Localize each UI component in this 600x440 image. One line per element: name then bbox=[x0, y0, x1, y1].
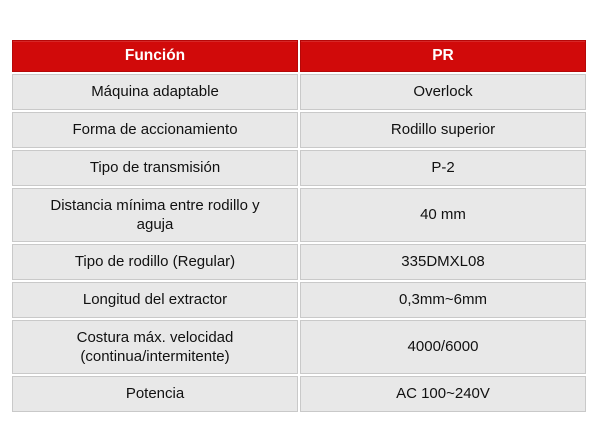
table-row: Tipo de rodillo (Regular)335DMXL08 bbox=[12, 244, 586, 280]
table-row: Forma de accionamientoRodillo superior bbox=[12, 112, 586, 148]
table-row: PotenciaAC 100~240V bbox=[12, 376, 586, 412]
cell-value: 4000/6000 bbox=[300, 320, 586, 374]
specifications-table: Función PR Máquina adaptableOverlockForm… bbox=[10, 38, 588, 414]
cell-value: P-2 bbox=[300, 150, 586, 186]
cell-value: Overlock bbox=[300, 74, 586, 110]
cell-function: Potencia bbox=[12, 376, 298, 412]
cell-function-text: Longitud del extractor bbox=[19, 290, 291, 310]
table-row: Distancia mínima entre rodillo yaguja40 … bbox=[12, 188, 586, 242]
cell-value-text: AC 100~240V bbox=[307, 384, 579, 404]
cell-value: Rodillo superior bbox=[300, 112, 586, 148]
table-row: Tipo de transmisiónP-2 bbox=[12, 150, 586, 186]
cell-function: Máquina adaptable bbox=[12, 74, 298, 110]
table-header: Función PR bbox=[12, 40, 586, 72]
cell-function-text: Distancia mínima entre rodillo y bbox=[19, 196, 291, 216]
cell-function-text-line2: (continua/intermitente) bbox=[80, 348, 229, 365]
cell-function: Longitud del extractor bbox=[12, 282, 298, 318]
cell-value-text: 40 mm bbox=[307, 205, 579, 225]
cell-function: Tipo de rodillo (Regular) bbox=[12, 244, 298, 280]
cell-value-text: P-2 bbox=[307, 158, 579, 178]
cell-function-text: Tipo de transmisión bbox=[19, 158, 291, 178]
cell-function-text: Forma de accionamiento bbox=[19, 120, 291, 140]
cell-function: Forma de accionamiento bbox=[12, 112, 298, 148]
cell-function-text: Tipo de rodillo (Regular) bbox=[19, 252, 291, 272]
cell-value-text: Overlock bbox=[307, 82, 579, 102]
cell-value: 335DMXL08 bbox=[300, 244, 586, 280]
header-row: Función PR bbox=[12, 40, 586, 72]
column-header-pr: PR bbox=[300, 40, 586, 72]
cell-function: Distancia mínima entre rodillo yaguja bbox=[12, 188, 298, 242]
cell-function-text: Máquina adaptable bbox=[19, 82, 291, 102]
cell-function-text: Costura máx. velocidad bbox=[19, 328, 291, 348]
cell-function-text-line2: aguja bbox=[137, 216, 174, 233]
cell-value-text: 0,3mm~6mm bbox=[307, 290, 579, 310]
cell-value-text: 335DMXL08 bbox=[307, 252, 579, 272]
table-row: Costura máx. velocidad(continua/intermit… bbox=[12, 320, 586, 374]
cell-value: 0,3mm~6mm bbox=[300, 282, 586, 318]
table-body: Máquina adaptableOverlockForma de accion… bbox=[12, 74, 586, 412]
table-row: Máquina adaptableOverlock bbox=[12, 74, 586, 110]
cell-function: Tipo de transmisión bbox=[12, 150, 298, 186]
column-header-function: Función bbox=[12, 40, 298, 72]
cell-value: AC 100~240V bbox=[300, 376, 586, 412]
table-row: Longitud del extractor0,3mm~6mm bbox=[12, 282, 586, 318]
cell-value: 40 mm bbox=[300, 188, 586, 242]
cell-function: Costura máx. velocidad(continua/intermit… bbox=[12, 320, 298, 374]
cell-value-text: Rodillo superior bbox=[307, 120, 579, 140]
cell-value-text: 4000/6000 bbox=[307, 337, 579, 357]
cell-function-text: Potencia bbox=[19, 384, 291, 404]
